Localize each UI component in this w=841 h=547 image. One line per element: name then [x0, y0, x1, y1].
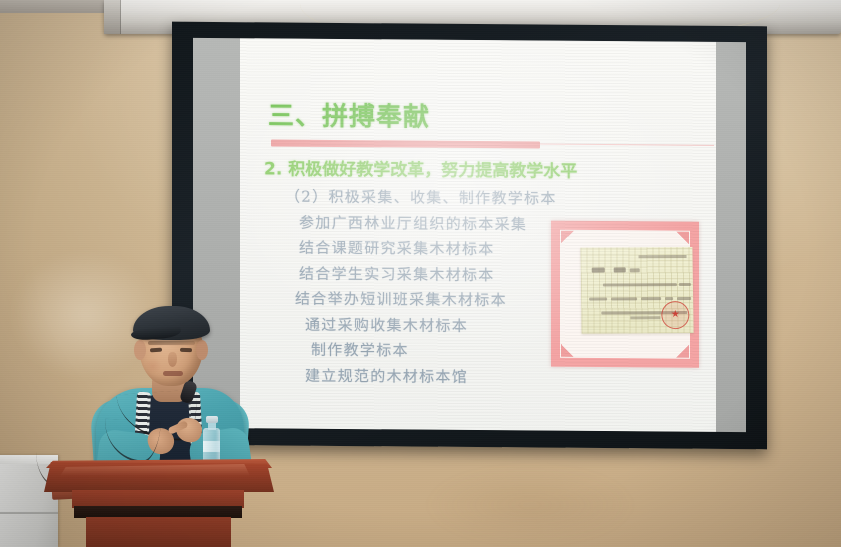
certificate-recipient-name	[592, 268, 605, 273]
certificate-red-seal: ★	[661, 301, 689, 329]
certificate-body-text	[665, 297, 673, 300]
certificate-body-text	[641, 297, 661, 300]
presentation-photo: 三、拼搏奉献 2. 积极做好教学改革，努力提高教学水平 （2）积极采集、收集、制…	[0, 0, 841, 547]
slide-subtitle: 2. 积极做好教学改革，努力提高教学水平	[264, 154, 577, 181]
certificate-body-text	[589, 297, 607, 300]
wall-shadow-right	[430, 470, 630, 540]
speaker-nose	[168, 352, 177, 367]
speaker-eye-right	[180, 348, 192, 352]
title-underline-bar	[271, 139, 540, 148]
speaker-eye-left	[150, 348, 162, 353]
certificate-body-text	[679, 283, 691, 286]
certificate-paper: ★	[580, 247, 693, 334]
slide-title: 三、拼搏奉献	[268, 95, 430, 133]
certificate-honorific	[630, 268, 640, 272]
certificate-recipient-name	[614, 267, 626, 272]
projected-slide-area: 三、拼搏奉献 2. 积极做好教学改革，努力提高教学水平 （2）积极采集、收集、制…	[240, 38, 716, 432]
projector-screen-frame: 三、拼搏奉献 2. 积极做好教学改革，努力提高教学水平 （2）积极采集、收集、制…	[172, 22, 767, 450]
water-bottle-label	[203, 441, 220, 452]
side-cabinet-seam	[0, 512, 58, 514]
certificate-body-text	[611, 297, 637, 300]
speaker-ear-right	[196, 340, 208, 360]
speaker-mouth	[163, 371, 183, 376]
certificate-header-text	[639, 255, 687, 258]
slide: 三、拼搏奉献 2. 积极做好教学改革，努力提高教学水平 （2）积极采集、收集、制…	[240, 38, 716, 432]
certificate-body-text	[677, 297, 691, 300]
speaker-cheek	[144, 358, 162, 374]
slide-body-line: （2）积极采集、收集、制作教学标本	[285, 185, 705, 214]
seal-star-icon: ★	[671, 310, 680, 320]
slide-body-line: 建立规范的木材标本馆	[305, 363, 705, 392]
projector-screen-surface: 三、拼搏奉献 2. 积极做好教学改革，努力提高教学水平 （2）积极采集、收集、制…	[193, 38, 746, 432]
certificate-body-text	[603, 283, 677, 286]
podium-column	[86, 517, 231, 547]
speaker-brow	[148, 341, 195, 345]
water-bottle-cap	[206, 416, 218, 423]
certificate-image: ★	[551, 221, 699, 368]
speaker-ear-left	[134, 340, 146, 360]
title-underline-extension	[540, 144, 714, 147]
certificate-issuer-text	[630, 316, 660, 319]
wall-highlight	[10, 250, 160, 380]
roller-end-cap	[104, 0, 121, 34]
